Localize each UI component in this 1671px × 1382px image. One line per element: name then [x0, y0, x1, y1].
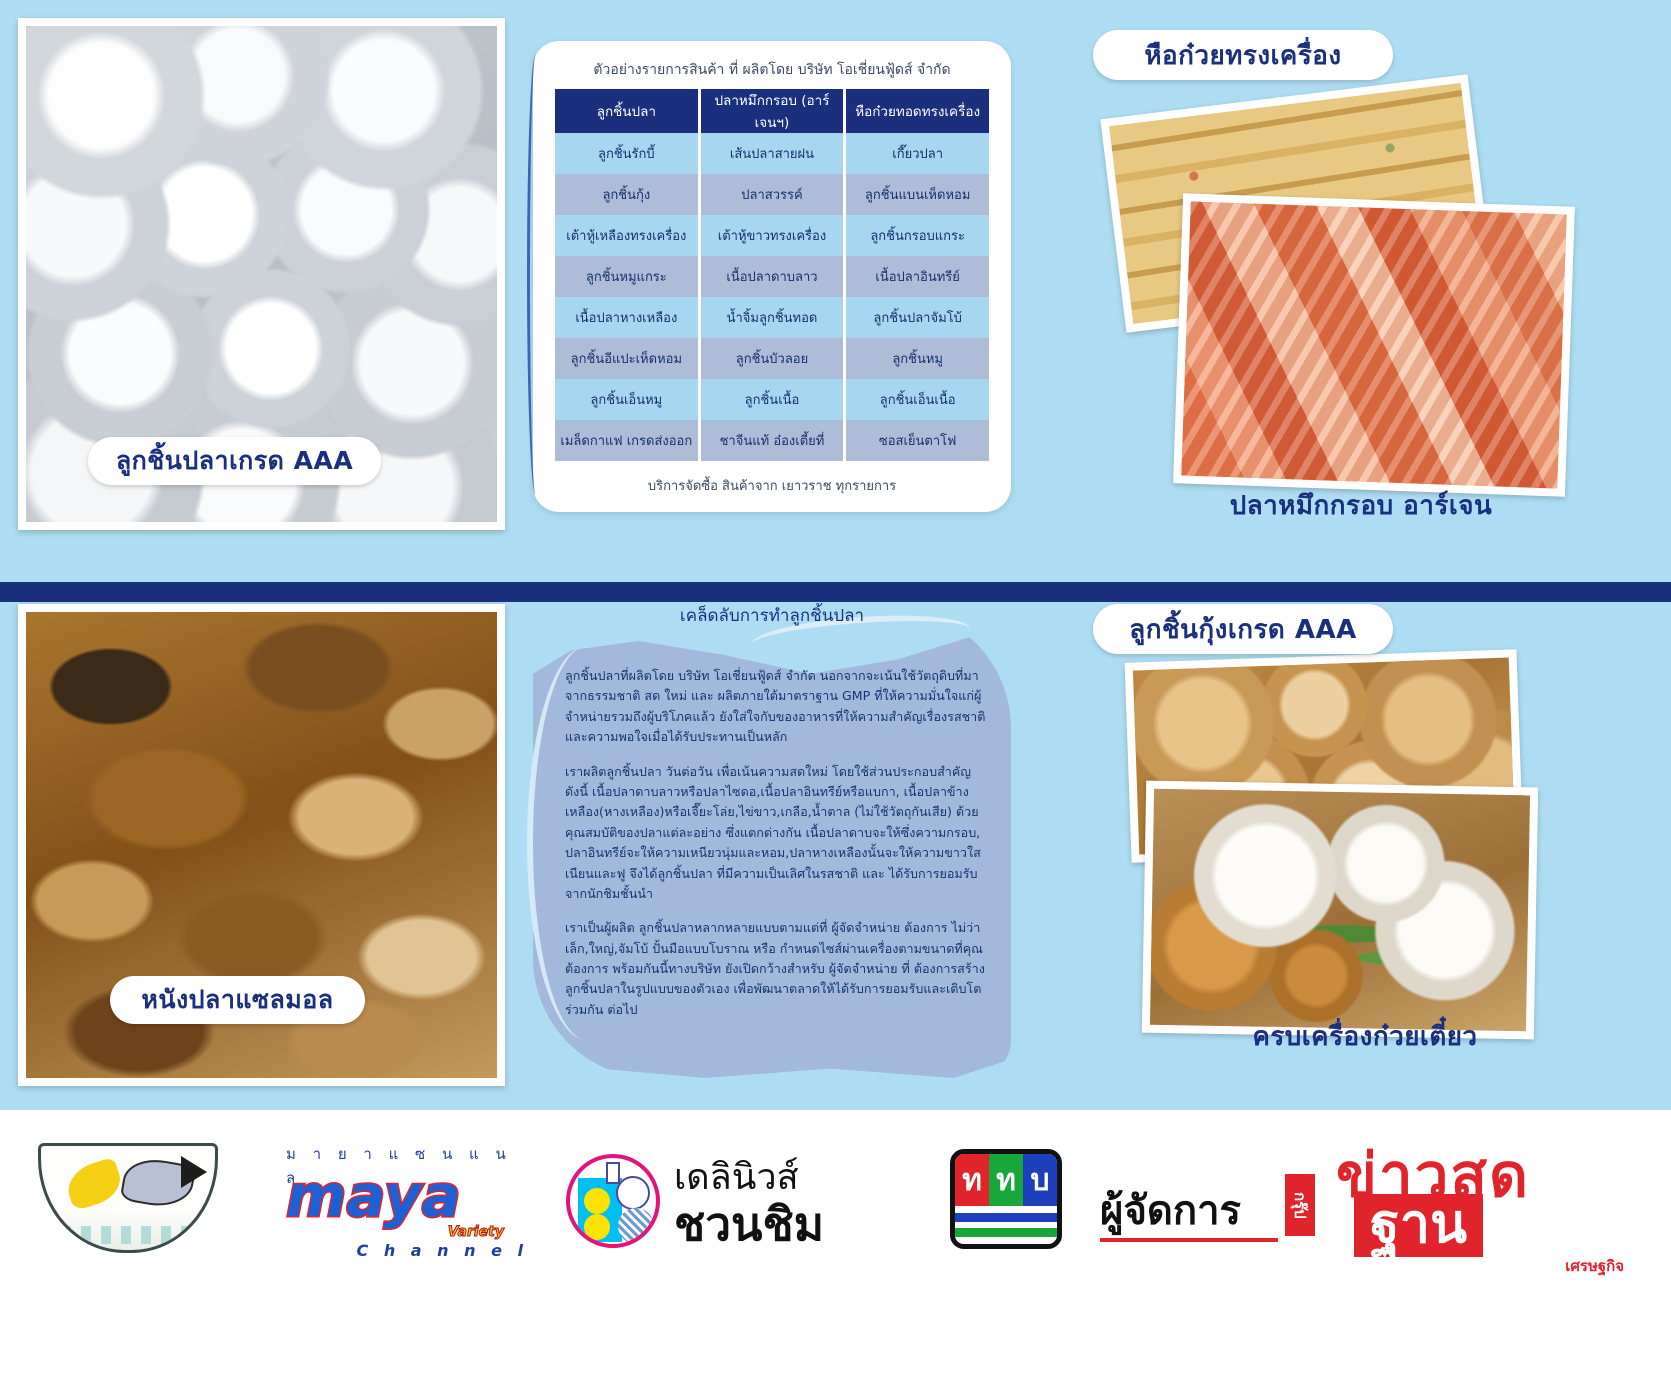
article-section: เคล็ดลับการทำลูกชิ้นปลา ลูกชิ้นปลาที่ผลิ… — [533, 608, 1011, 1078]
table-cell: ลูกชิ้นเอ็นหมู — [555, 379, 698, 420]
table-header-row: ลูกชิ้นปลา ปลาหมึกกรอบ (อาร์เจนฯ) หือก๋ว… — [555, 89, 989, 133]
shape-white-circle — [616, 1176, 650, 1210]
shape-yellow-circle — [584, 1214, 610, 1240]
article-title: เคล็ดลับการทำลูกชิ้นปลา — [533, 602, 1011, 629]
table-cell: ลูกชิ้นปลาจัมโบ้ — [846, 297, 989, 338]
table-header-cell: ลูกชิ้นปลา — [555, 89, 698, 133]
logo-tv5: ท ท บ — [950, 1146, 1068, 1252]
tv5-letter: ท — [989, 1154, 1023, 1206]
badge-fish-skin: หนังปลาแซลมอล — [110, 976, 365, 1024]
table-row: เนื้อปลาหางเหลืองน้ำจิ้มลูกชิ้นทอดลูกชิ้… — [555, 297, 989, 338]
table-cell: เต้าหู้ขาวทรงเครื่อง — [701, 215, 844, 256]
badge-noodle-bowl: ครบเครื่องก๋วยเตี๋ยว — [1215, 1012, 1515, 1060]
squid-photo — [1173, 193, 1575, 497]
table-cell: ลูกชิ้นกุ้ง — [555, 174, 698, 215]
shape-dotted-circle — [618, 1208, 654, 1244]
logo-manager: ผู้จัดการ กรุ๊ป — [1100, 1178, 1315, 1244]
table-cell: ซอสเย็นตาโฟ — [846, 420, 989, 461]
table-header-cell: หือก๋วยทอดทรงเครื่อง — [846, 89, 989, 133]
table-row: ลูกชิ้นรักบี้เส้นปลาสายฝนเกี๊ยวปลา — [555, 133, 989, 174]
table-row: เมล็ดกาแฟ เกรดส่งออกชาจีนแท้ อ๋องเตี้ยที… — [555, 420, 989, 461]
table-cell: ลูกชิ้นหมู — [846, 338, 989, 379]
dailynews-bottom-text: ชวนชิม — [674, 1188, 824, 1261]
setthakij-text: เศรษฐกิจ — [1565, 1254, 1624, 1278]
table-title: ตัวอย่างรายการสินค้า ที่ ผลิตโดย บริษัท … — [533, 41, 1011, 89]
logo-dailynews-chuanchim: เดลินิวส์ ชวนชิม — [566, 1146, 912, 1256]
table-cell: ลูกชิ้นกรอบแกระ — [846, 215, 989, 256]
table-header-cell: ปลาหมึกกรอบ (อาร์เจนฯ) — [701, 89, 844, 133]
noodle-bowl-image — [1150, 789, 1530, 1032]
fish-tail-icon — [181, 1156, 207, 1188]
shape-white-rect — [606, 1162, 620, 1184]
table-footer-note: บริการจัดซื้อ สินค้าจาก เยาวราช ทุกรายกา… — [533, 475, 1011, 496]
wave-decoration — [41, 1226, 215, 1244]
dailynews-circle-icon — [566, 1154, 660, 1248]
article-body: ลูกชิ้นปลาที่ผลิตโดย บริษัท โอเชี่ยนฟู้ด… — [565, 666, 989, 1034]
table-cell: เกี๊ยวปลา — [846, 133, 989, 174]
article-paragraph-3: เราเป็นผู้ผลิต ลูกชิ้นปลาหลากหลายแบบตามแ… — [565, 918, 989, 1020]
table-cell: ปลาสวรรค์ — [701, 174, 844, 215]
table-cell: ลูกชิ้นรักบี้ — [555, 133, 698, 174]
table-cell: ลูกชิ้นบัวลอย — [701, 338, 844, 379]
badge-hor-kuay: หือก๋วยทรงเครื่อง — [1093, 30, 1393, 80]
article-paragraph-2: เราผลิตลูกชิ้นปลา วันต่อวัน เพื่อเน้นควา… — [565, 762, 989, 905]
badge-squid: ปลาหมึกกรอบ อาร์เจน — [1201, 481, 1521, 529]
table-cell: ลูกชิ้นเนื้อ — [701, 379, 844, 420]
table-cell: ชาจีนแท้ อ๋องเตี้ยที่ — [701, 420, 844, 461]
logo-maya-channel: ม า ย า แ ซ น แ น ล maya Variety C h a n… — [286, 1142, 534, 1260]
table-row: เต้าหู้เหลืองทรงเครื่องเต้าหู้ขาวทรงเครื… — [555, 215, 989, 256]
noodle-bowl-photo — [1142, 781, 1538, 1040]
badge-fish-ball: ลูกชิ้นปลาเกรด AAA — [88, 437, 381, 485]
logo-fish-bowl — [38, 1128, 228, 1268]
table-row: ลูกชิ้นหมูแกระเนื้อปลาดาบลาวเนื้อปลาอินท… — [555, 256, 989, 297]
logo-khaosod-thansetthakij: ข่าวสด ฐาน เศรษฐกิจ — [1332, 1128, 1642, 1278]
maya-variety-text: Variety — [448, 1224, 504, 1240]
table-cell: ลูกชิ้นเอ็นเนื้อ — [846, 379, 989, 420]
bowl-icon — [38, 1143, 218, 1253]
tv5-color-bars — [955, 1206, 1057, 1244]
table-cell: เนื้อปลาอินทรีย์ — [846, 256, 989, 297]
manager-group-tag: กรุ๊ป — [1285, 1174, 1315, 1236]
yellow-fish-icon — [62, 1157, 126, 1212]
table-row: ลูกชิ้นเอ็นหมูลูกชิ้นเนื้อลูกชิ้นเอ็นเนื… — [555, 379, 989, 420]
table-cell: เนื้อปลาหางเหลือง — [555, 297, 698, 338]
table-cell: เต้าหู้เหลืองทรงเครื่อง — [555, 215, 698, 256]
table-cell: ลูกชิ้นแบนเห็ดหอม — [846, 174, 989, 215]
brochure-page: ลูกชิ้นปลาเกรด AAA หนังปลาแซลมอล หือก๋วย… — [0, 0, 1671, 1382]
maya-wordmark: maya — [286, 1162, 461, 1230]
shape-yellow-circle — [584, 1188, 610, 1214]
table-row: ลูกชิ้นกุ้งปลาสวรรค์ลูกชิ้นแบนเห็ดหอม — [555, 174, 989, 215]
table-cell: เมล็ดกาแฟ เกรดส่งออก — [555, 420, 698, 461]
table-cell: ลูกชิ้นอีแปะเห็ดหอม — [555, 338, 698, 379]
squid-image — [1181, 202, 1566, 489]
than-wordmark: ฐาน — [1354, 1194, 1483, 1257]
manager-underline — [1100, 1238, 1278, 1242]
table-cell: เส้นปลาสายฝน — [701, 133, 844, 174]
section-divider — [0, 582, 1671, 602]
table-cell: เนื้อปลาดาบลาว — [701, 256, 844, 297]
badge-shrimp-ball: ลูกชิ้นกุ้งเกรด AAA — [1093, 604, 1393, 654]
table-row: ลูกชิ้นอีแปะเห็ดหอมลูกชิ้นบัวลอยลูกชิ้นห… — [555, 338, 989, 379]
maya-channel-text: C h a n n e l — [357, 1241, 528, 1260]
manager-wordmark: ผู้จัดการ — [1100, 1178, 1241, 1242]
tv5-letter: บ — [1023, 1154, 1057, 1206]
tv5-shell-icon: ท ท บ — [950, 1149, 1062, 1249]
tv5-letter: ท — [955, 1154, 989, 1206]
table-cell: ลูกชิ้นหมูแกระ — [555, 256, 698, 297]
table-cell: น้ำจิ้มลูกชิ้นทอด — [701, 297, 844, 338]
product-table: ลูกชิ้นปลา ปลาหมึกกรอบ (อาร์เจนฯ) หือก๋ว… — [552, 89, 992, 461]
product-table-card: ตัวอย่างรายการสินค้า ที่ ผลิตโดย บริษัท … — [533, 41, 1011, 512]
article-paragraph-1: ลูกชิ้นปลาที่ผลิตโดย บริษัท โอเชี่ยนฟู้ด… — [565, 666, 989, 748]
